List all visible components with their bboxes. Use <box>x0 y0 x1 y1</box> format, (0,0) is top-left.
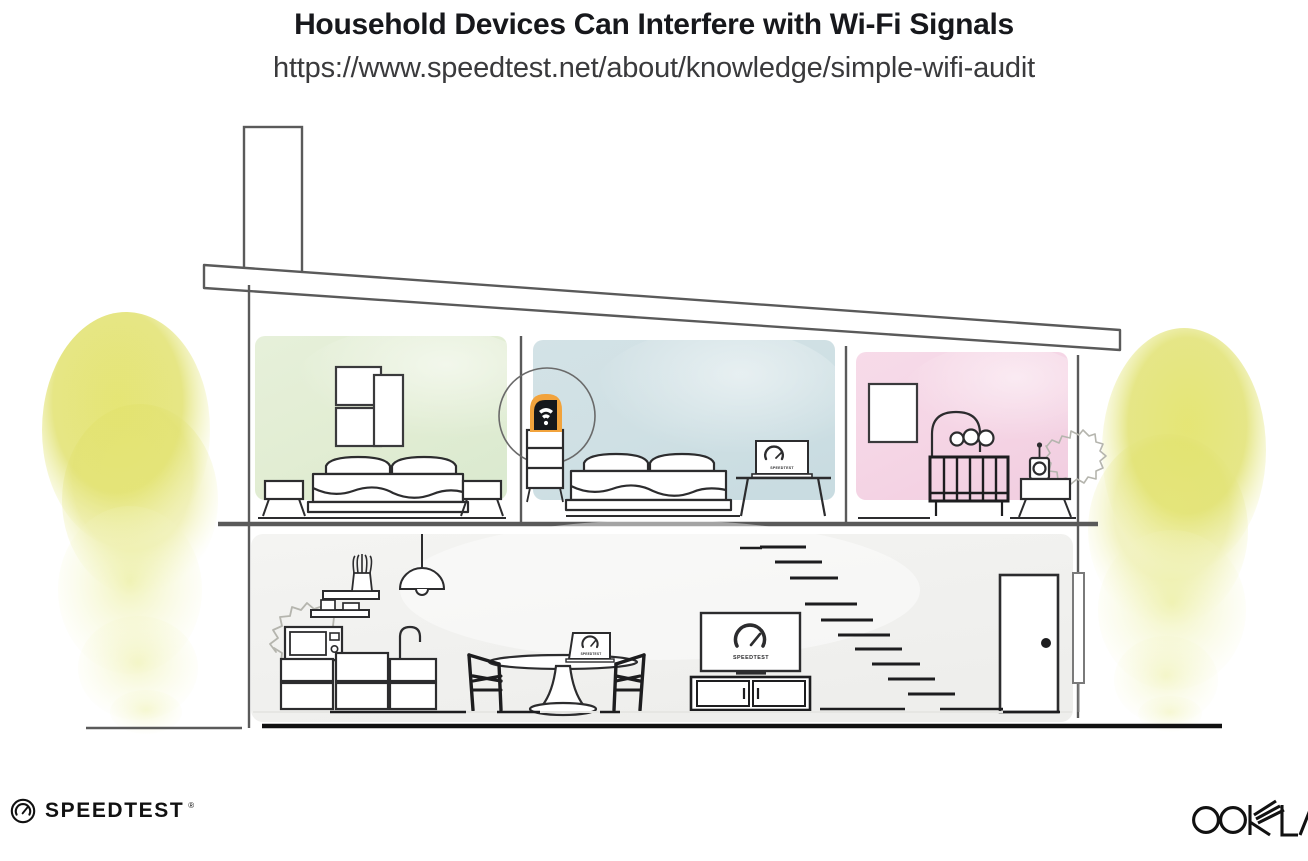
nightstand-nursery <box>1019 479 1071 517</box>
ookla-mark-icon <box>1188 793 1308 837</box>
tv-screen-label: SPEEDTEST <box>733 655 769 661</box>
wall-art-frame-nursery <box>869 384 917 442</box>
chimney <box>244 127 302 279</box>
illustration-canvas: Household Devices Can Interfere with Wi-… <box>0 0 1308 861</box>
speedtest-wordmark: SPEEDTEST <box>45 799 184 823</box>
foliage-left <box>42 312 218 734</box>
speedtest-gauge-icon <box>10 798 36 824</box>
bed-green-room <box>308 457 468 512</box>
kitchen-counters <box>281 653 436 709</box>
nightstand-left-green <box>263 481 305 516</box>
bed-blue-room <box>566 454 731 510</box>
microwave[interactable] <box>285 627 342 660</box>
laptop-speedtest-desk[interactable]: SPEEDTEST <box>752 441 812 477</box>
television-speedtest[interactable]: SPEEDTEST <box>701 613 800 675</box>
media-console <box>691 677 810 710</box>
kitchen-shelf-upper <box>323 591 379 599</box>
laptop-speedtest-table[interactable]: SPEEDTEST <box>566 633 614 662</box>
laptop-screen-label: SPEEDTEST <box>770 466 794 470</box>
front-door[interactable] <box>1000 575 1058 712</box>
house-cutaway-illustration: SPEEDTEST <box>0 0 1308 861</box>
foliage-right <box>1088 328 1266 732</box>
ookla-logo <box>1188 793 1308 837</box>
door-knob-icon[interactable] <box>1041 638 1051 648</box>
window-panel-narrow <box>1073 573 1084 712</box>
speedtest-logo: SPEEDTEST ® <box>10 798 194 824</box>
table-laptop-screen-label: SPEEDTEST <box>581 652 602 656</box>
speedtest-trademark: ® <box>188 801 194 810</box>
wifi-router[interactable] <box>530 394 562 432</box>
